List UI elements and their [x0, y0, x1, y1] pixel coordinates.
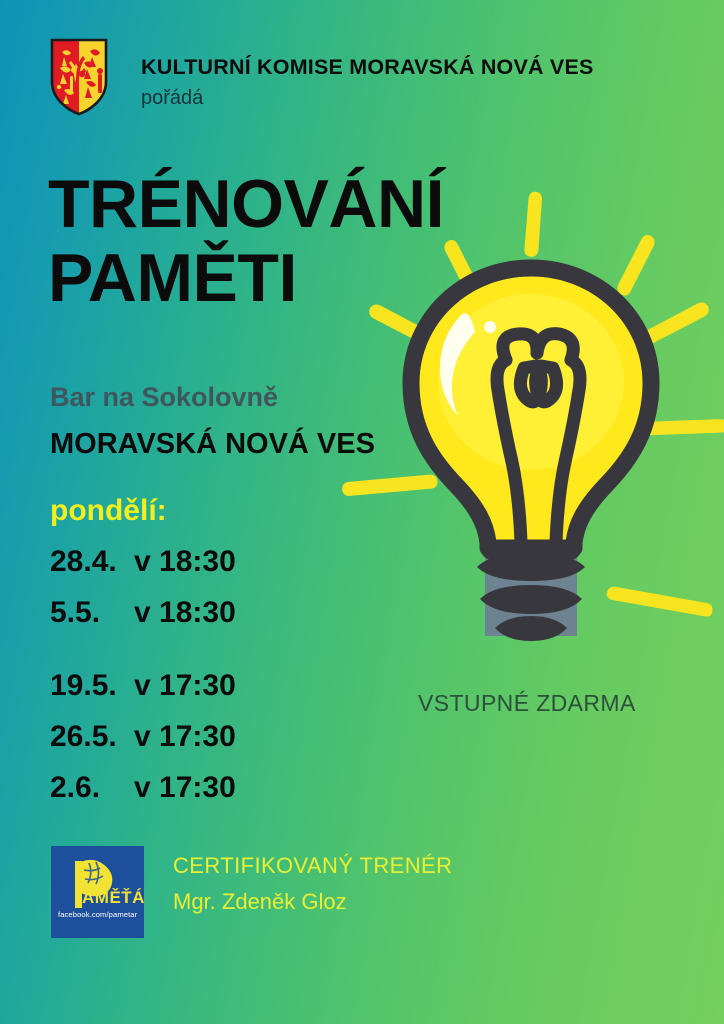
- lightbulb-glass-icon: [411, 268, 651, 548]
- schedule-row: 28.4. v 18:30: [50, 547, 236, 577]
- poster-canvas: KULTURNÍ KOMISE MORAVSKÁ NOVÁ VES pořádá…: [0, 0, 724, 1024]
- schedule-row: 26.5. v 17:30: [50, 722, 236, 752]
- schedule-time: v 17:30: [134, 773, 236, 803]
- venue-city: MORAVSKÁ NOVÁ VES: [50, 430, 375, 459]
- pametar-brain-logo-icon: AMĚŤÁŘ facebook.com/pametar: [51, 846, 144, 938]
- schedule-date: 19.5.: [50, 671, 134, 701]
- poster-footer: AMĚŤÁŘ facebook.com/pametar CERTIFIKOVAN…: [51, 846, 452, 938]
- pametar-url: facebook.com/pametar: [58, 910, 138, 919]
- trainer-role: CERTIFIKOVANÝ TRENÉR: [173, 855, 452, 877]
- schedule-block: pondělí: 28.4. v 18:30 5.5. v 18:30 19.5…: [50, 496, 236, 824]
- schedule-time: v 17:30: [134, 722, 236, 752]
- schedule-row: 19.5. v 17:30: [50, 671, 236, 701]
- pametar-brand-rest: AMĚŤÁŘ: [82, 888, 144, 907]
- schedule-group-divider: [50, 649, 236, 671]
- header-text-block: KULTURNÍ KOMISE MORAVSKÁ NOVÁ VES pořádá: [141, 38, 594, 108]
- schedule-date: 26.5.: [50, 722, 134, 752]
- schedule-time: v 17:30: [134, 671, 236, 701]
- schedule-time: v 18:30: [134, 598, 236, 628]
- page-title: TRÉNOVÁNÍ PAMĚTI: [48, 172, 444, 312]
- organizer-name: KULTURNÍ KOMISE MORAVSKÁ NOVÁ VES: [141, 56, 594, 79]
- lightbulb-base-icon: [477, 538, 585, 641]
- trainer-name: Mgr. Zdeněk Gloz: [173, 891, 452, 913]
- poster-header: KULTURNÍ KOMISE MORAVSKÁ NOVÁ VES pořádá: [50, 38, 594, 116]
- lightbulb-filament-icon: [497, 334, 580, 542]
- schedule-date: 2.6.: [50, 773, 134, 803]
- coat-of-arms-icon: [50, 38, 108, 116]
- schedule-day-label: pondělí:: [50, 496, 236, 526]
- title-line-2: PAMĚTI: [48, 246, 444, 312]
- organizer-action: pořádá: [141, 88, 594, 108]
- trainer-block: CERTIFIKOVANÝ TRENÉR Mgr. Zdeněk Gloz: [173, 846, 452, 913]
- free-entry-note: VSTUPNÉ ZDARMA: [418, 690, 636, 717]
- schedule-row: 5.5. v 18:30: [50, 598, 236, 628]
- venue-block: Bar na Sokolovně MORAVSKÁ NOVÁ VES: [50, 384, 375, 459]
- schedule-time: v 18:30: [134, 547, 236, 577]
- schedule-date: 5.5.: [50, 598, 134, 628]
- schedule-row: 2.6. v 17:30: [50, 773, 236, 803]
- venue-place: Bar na Sokolovně: [50, 384, 375, 411]
- title-line-1: TRÉNOVÁNÍ: [48, 172, 444, 238]
- schedule-date: 28.4.: [50, 547, 134, 577]
